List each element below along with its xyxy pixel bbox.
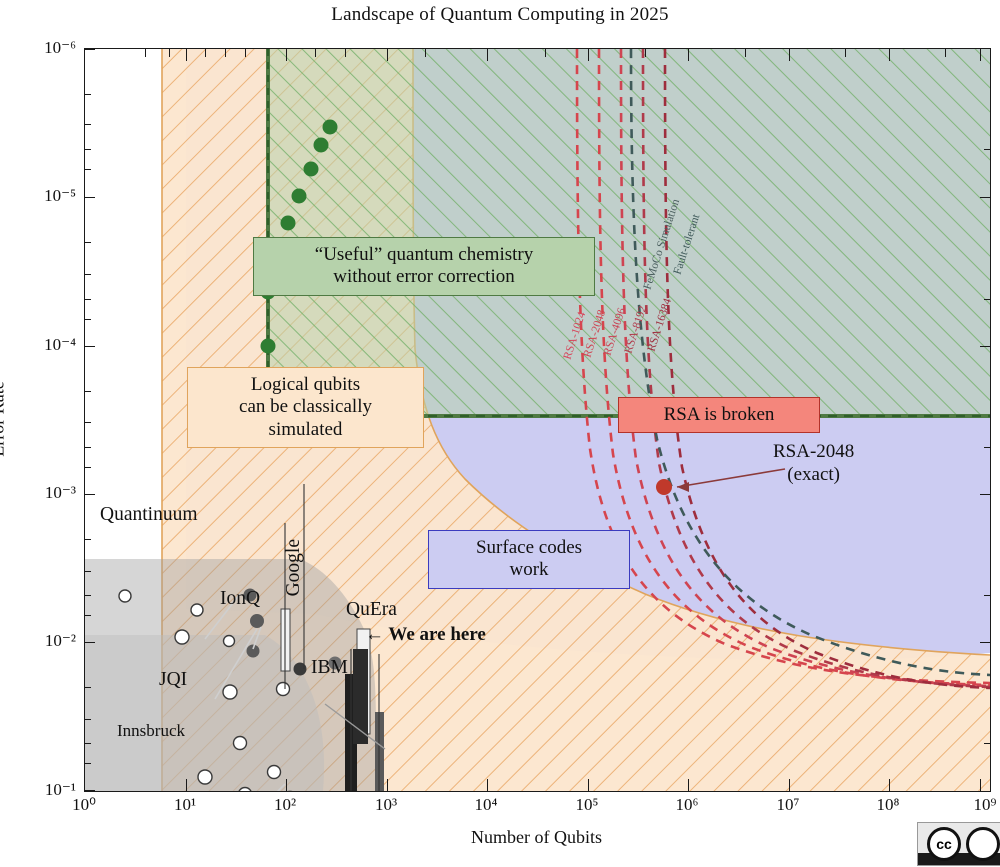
device-point <box>224 636 235 647</box>
plot-area: FeMoCo Simulation Fault-tolerant RSA-102… <box>84 48 991 792</box>
y-tick-label: 10⁻⁶ <box>44 38 76 58</box>
device-point <box>191 604 203 616</box>
chemistry-point <box>323 120 338 135</box>
x-tick-label: 10⁰ <box>72 795 96 815</box>
y-tick-label: 10⁻⁴ <box>44 335 76 355</box>
device-point <box>277 683 290 696</box>
chemistry-point <box>304 162 319 177</box>
chemistry-point <box>314 138 329 153</box>
x-tick-label: 10⁸ <box>877 795 900 815</box>
device-point-filled <box>247 645 260 658</box>
y-tick-labels: 10⁻⁶ 10⁻⁵ 10⁻⁴ 10⁻³ 10⁻² 10⁻¹ <box>0 0 84 867</box>
y-tick-label: 10⁻³ <box>45 483 76 503</box>
chemistry-point <box>281 216 296 231</box>
by-icon <box>966 827 1000 861</box>
annotation-box-chemistry: “Useful” quantum chemistry without error… <box>253 237 595 296</box>
annotation-box-logical-simulated: Logical qubits can be classically simula… <box>187 367 424 448</box>
device-point <box>234 737 247 750</box>
label-quantinuum: Quantinuum <box>100 504 198 526</box>
x-tick-label: 10⁷ <box>777 795 800 815</box>
x-tick-label: 10² <box>274 795 296 815</box>
x-tick-label: 10⁶ <box>676 795 699 815</box>
device-point <box>223 685 237 699</box>
y-tick-label: 10⁻⁵ <box>44 186 76 206</box>
y-tick-label: 10⁻² <box>45 631 76 651</box>
device-point <box>198 770 212 784</box>
x-tick-label: 10⁴ <box>475 795 498 815</box>
label-ionq: IonQ <box>220 588 260 610</box>
annotation-box-surface-codes: Surface codes work <box>428 530 630 589</box>
x-axis-title: Number of Qubits <box>84 827 989 848</box>
x-tick-label: 10⁵ <box>576 795 599 815</box>
chemistry-point <box>261 339 276 354</box>
label-innsbruck: Innsbruck <box>117 721 185 741</box>
rsa-2048-exact-point <box>656 479 672 495</box>
chemistry-point <box>292 189 307 204</box>
label-google: Google <box>283 539 305 596</box>
creative-commons-badge[interactable]: cc <box>917 822 1000 866</box>
annotation-box-rsa-broken: RSA is broken <box>618 397 820 433</box>
region-chemistry-hatch <box>268 49 990 416</box>
label-ibm: IBM <box>311 657 348 679</box>
callout-we-are-here: ← We are here <box>365 624 486 647</box>
device-point-filled <box>250 614 264 628</box>
callout-rsa-2048-exact: RSA-2048 (exact) <box>773 441 854 487</box>
figure: Landscape of Quantum Computing in 2025 E… <box>0 0 1000 867</box>
chart-title: Landscape of Quantum Computing in 2025 <box>0 4 1000 26</box>
cc-icon: cc <box>927 827 961 861</box>
x-tick-label: 10³ <box>375 795 397 815</box>
x-tick-label: 10¹ <box>174 795 196 815</box>
device-point <box>175 630 189 644</box>
label-quera: QuEra <box>346 599 397 621</box>
x-tick-label: 10⁹ <box>974 795 997 815</box>
device-point <box>268 766 281 779</box>
device-point <box>119 590 131 602</box>
label-jqi: JQI <box>159 669 187 691</box>
